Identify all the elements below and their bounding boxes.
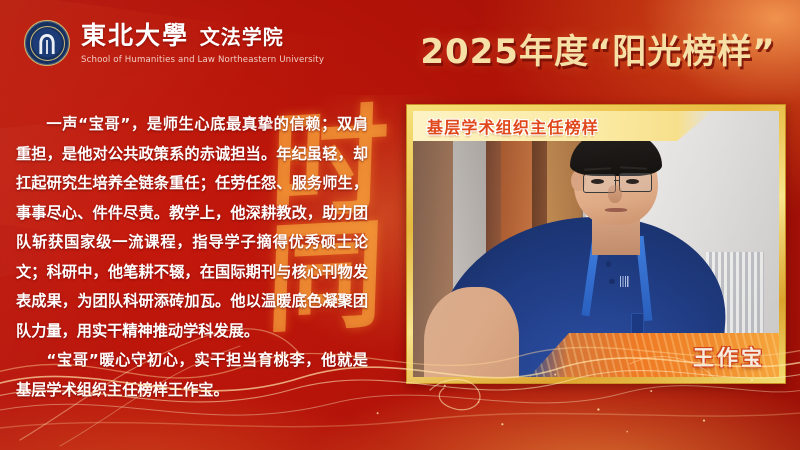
crest-ring-text: ◦◦◦◦◦◦◦◦◦ (25, 27, 69, 30)
page-title: 2025年度“阳光榜样” (412, 24, 784, 72)
poster-canvas: 时 同 ◦◦◦◦◦◦◦◦◦ 東北大學 文法学院 School of Humani… (0, 0, 800, 450)
person-name: 王作宝 (693, 342, 765, 372)
citation-paragraph: 一声“宝哥”，是师生心底最真挚的信赖；双肩重担，是他对公共政策系的赤诚担当。年纪… (16, 110, 368, 346)
school-name-cn-secondary: 文法学院 (200, 25, 284, 49)
citation-text-block: 一声“宝哥”，是师生心底最真挚的信赖；双肩重担，是他对公共政策系的赤诚担当。年纪… (16, 110, 368, 405)
crest-arch-glyph (37, 32, 57, 56)
person-nameplate: 王作宝 (529, 333, 779, 377)
school-name-block: 東北大學 文法学院 School of Humanities and Law N… (81, 20, 324, 65)
portrait-card: 基层学术组织主任榜样 王作宝 (406, 104, 786, 384)
citation-paragraph: “宝哥”暖心守初心，实干担当育桃李，他就是基层学术组织主任榜样王作宝。 (16, 346, 368, 405)
poster-header: ◦◦◦◦◦◦◦◦◦ 東北大學 文法学院 School of Humanities… (0, 0, 800, 92)
school-identity-block: ◦◦◦◦◦◦◦◦◦ 東北大學 文法学院 School of Humanities… (24, 20, 324, 66)
award-category-banner: 基层学术组织主任榜样 (413, 111, 713, 141)
school-name-en: School of Humanities and Law Northeaster… (81, 55, 324, 65)
northeastern-university-crest-icon: ◦◦◦◦◦◦◦◦◦ (24, 20, 70, 66)
school-name-cn: 東北大學 文法学院 (81, 21, 324, 52)
school-name-cn-primary: 東北大學 (81, 21, 189, 50)
award-category-label: 基层学术组织主任榜样 (427, 114, 599, 138)
